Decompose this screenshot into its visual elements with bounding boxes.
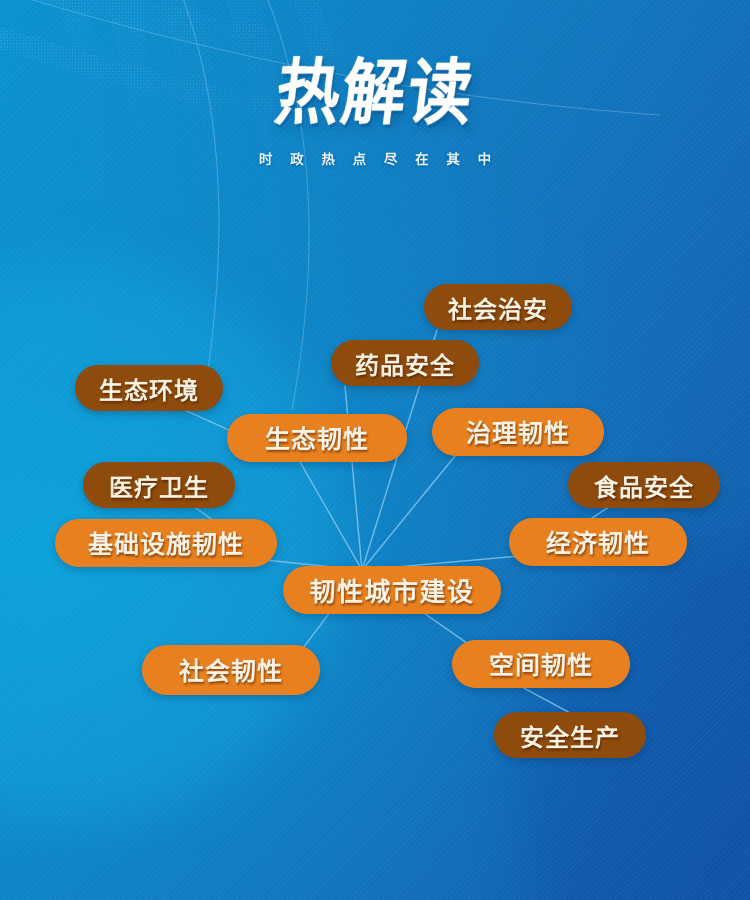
mindmap-link bbox=[300, 462, 362, 570]
mindmap-node-%E5%8C%BB%E7%96%97%E5%8D%AB%E7%94%9F[interactable]: 医疗卫生 bbox=[83, 462, 235, 508]
mindmap-node-%E7%A4%BE%E4%BC%9A%E6%B2%BB%E5%AE%89[interactable]: 社会治安 bbox=[424, 284, 572, 330]
mindmap-node-%E7%A4%BE%E4%BC%9A%E9%9F%A7%E6%80%A7[interactable]: 社会韧性 bbox=[142, 645, 320, 695]
mindmap-node-%E5%AE%89%E5%85%A8%E7%94%9F%E4%BA%A7[interactable]: 安全生产 bbox=[494, 712, 646, 758]
mindmap-node-%E7%BB%8F%E6%B5%8E%E9%9F%A7%E6%80%A7[interactable]: 经济韧性 bbox=[509, 518, 687, 566]
mindmap: 社会治安药品安全生态环境生态韧性治理韧性医疗卫生食品安全基础设施韧性经济韧性社会… bbox=[0, 0, 750, 900]
mindmap-link bbox=[362, 456, 455, 570]
mindmap-node-%E8%8D%AF%E5%93%81%E5%AE%89%E5%85%A8[interactable]: 药品安全 bbox=[331, 340, 479, 386]
mindmap-node-%E6%B2%BB%E7%90%86%E9%9F%A7%E6%80%A7[interactable]: 治理韧性 bbox=[432, 408, 604, 456]
mindmap-node-%E5%9F%BA%E7%A1%80%E8%AE%BE%E6%96%BD%E9%9F%A7%E6%80%A7[interactable]: 基础设施韧性 bbox=[55, 519, 277, 567]
mindmap-node-%E7%94%9F%E6%80%81%E9%9F%A7%E6%80%A7[interactable]: 生态韧性 bbox=[227, 414, 407, 462]
mindmap-node-%E9%A3%9F%E5%93%81%E5%AE%89%E5%85%A8[interactable]: 食品安全 bbox=[568, 462, 720, 508]
poster-root: 热解读 时 政 热 点 尽 在 其 中 社会治安药品安全生态环境生态韧性治理韧性… bbox=[0, 0, 750, 900]
mindmap-node-%E7%A9%BA%E9%97%B4%E9%9F%A7%E6%80%A7[interactable]: 空间韧性 bbox=[452, 640, 630, 688]
mindmap-root-node[interactable]: 韧性城市建设 bbox=[283, 566, 501, 614]
mindmap-node-%E7%94%9F%E6%80%81%E7%8E%AF%E5%A2%83[interactable]: 生态环境 bbox=[75, 365, 223, 411]
mindmap-link bbox=[520, 686, 572, 714]
